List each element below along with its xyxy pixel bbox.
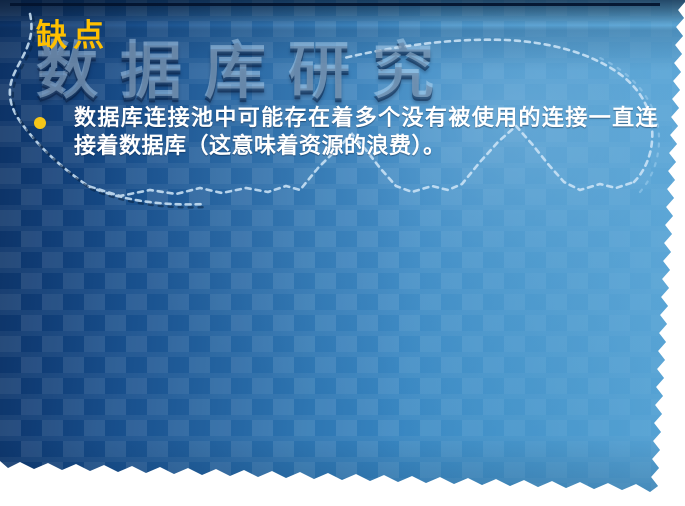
background-panel: [0, 0, 685, 506]
round-bullet-icon: [34, 117, 46, 129]
bullet-text: 数据库连接池中可能存在着多个没有被使用的连接一直连接着数据库（这意味着资源的浪费…: [74, 104, 658, 160]
slide-background: [0, 0, 685, 506]
slide-canvas: 数据库研究 缺点 数据库连接池中可能存在着多个没有被使用的连接一直连接着数据库（…: [0, 0, 685, 506]
slide-title: 缺点: [36, 19, 110, 53]
bullet-list: 数据库连接池中可能存在着多个没有被使用的连接一直连接着数据库（这意味着资源的浪费…: [34, 104, 658, 160]
top-rule: [10, 3, 660, 6]
